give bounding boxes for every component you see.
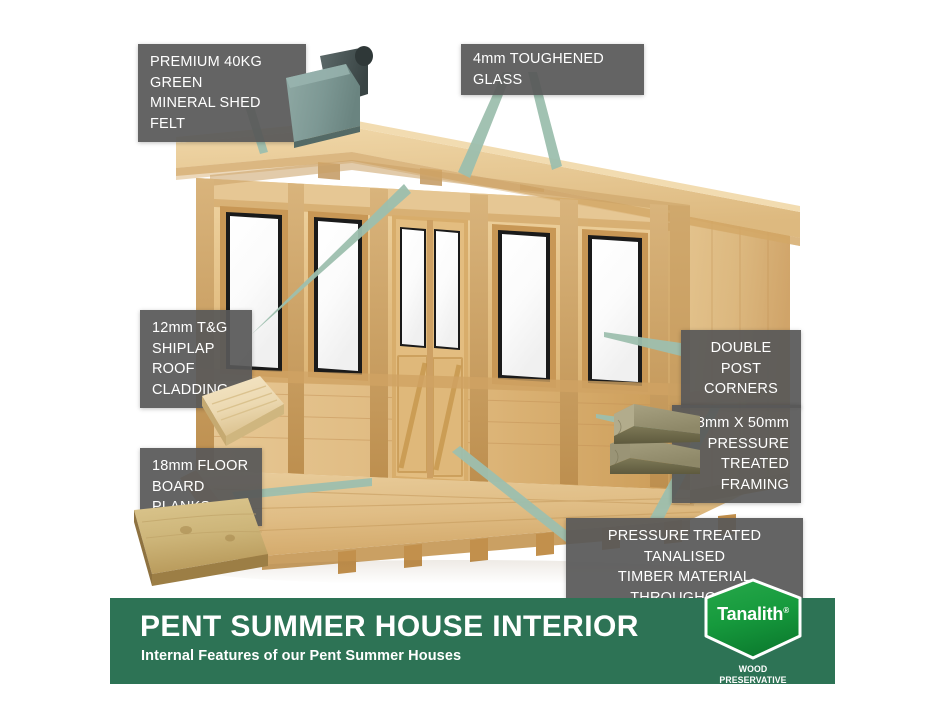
tanalith-wordmark: Tanalith (717, 604, 783, 624)
infographic-canvas: PREMIUM 40KG GREEN MINERAL SHED FELT 4mm… (0, 0, 940, 705)
page-title: PENT SUMMER HOUSE INTERIOR (140, 610, 639, 644)
treated-framing-timber-sample (604, 396, 700, 474)
tanalith-tagline: WOOD PRESERVATIVE (704, 664, 802, 686)
shiplap-cladding-board-sample (196, 374, 288, 458)
registered-mark: ® (783, 606, 789, 615)
roofing-felt-roll-sample (268, 42, 378, 148)
tanalith-brand-text: Tanalith® (700, 604, 806, 625)
page-subtitle: Internal Features of our Pent Summer Hou… (141, 648, 461, 664)
tanalith-logo: Tanalith® WOOD PRESERVATIVE (700, 578, 806, 684)
floor-board-plank-sample (130, 492, 272, 588)
callout-toughened-glass[interactable]: 4mm TOUGHENED GLASS (461, 44, 644, 95)
